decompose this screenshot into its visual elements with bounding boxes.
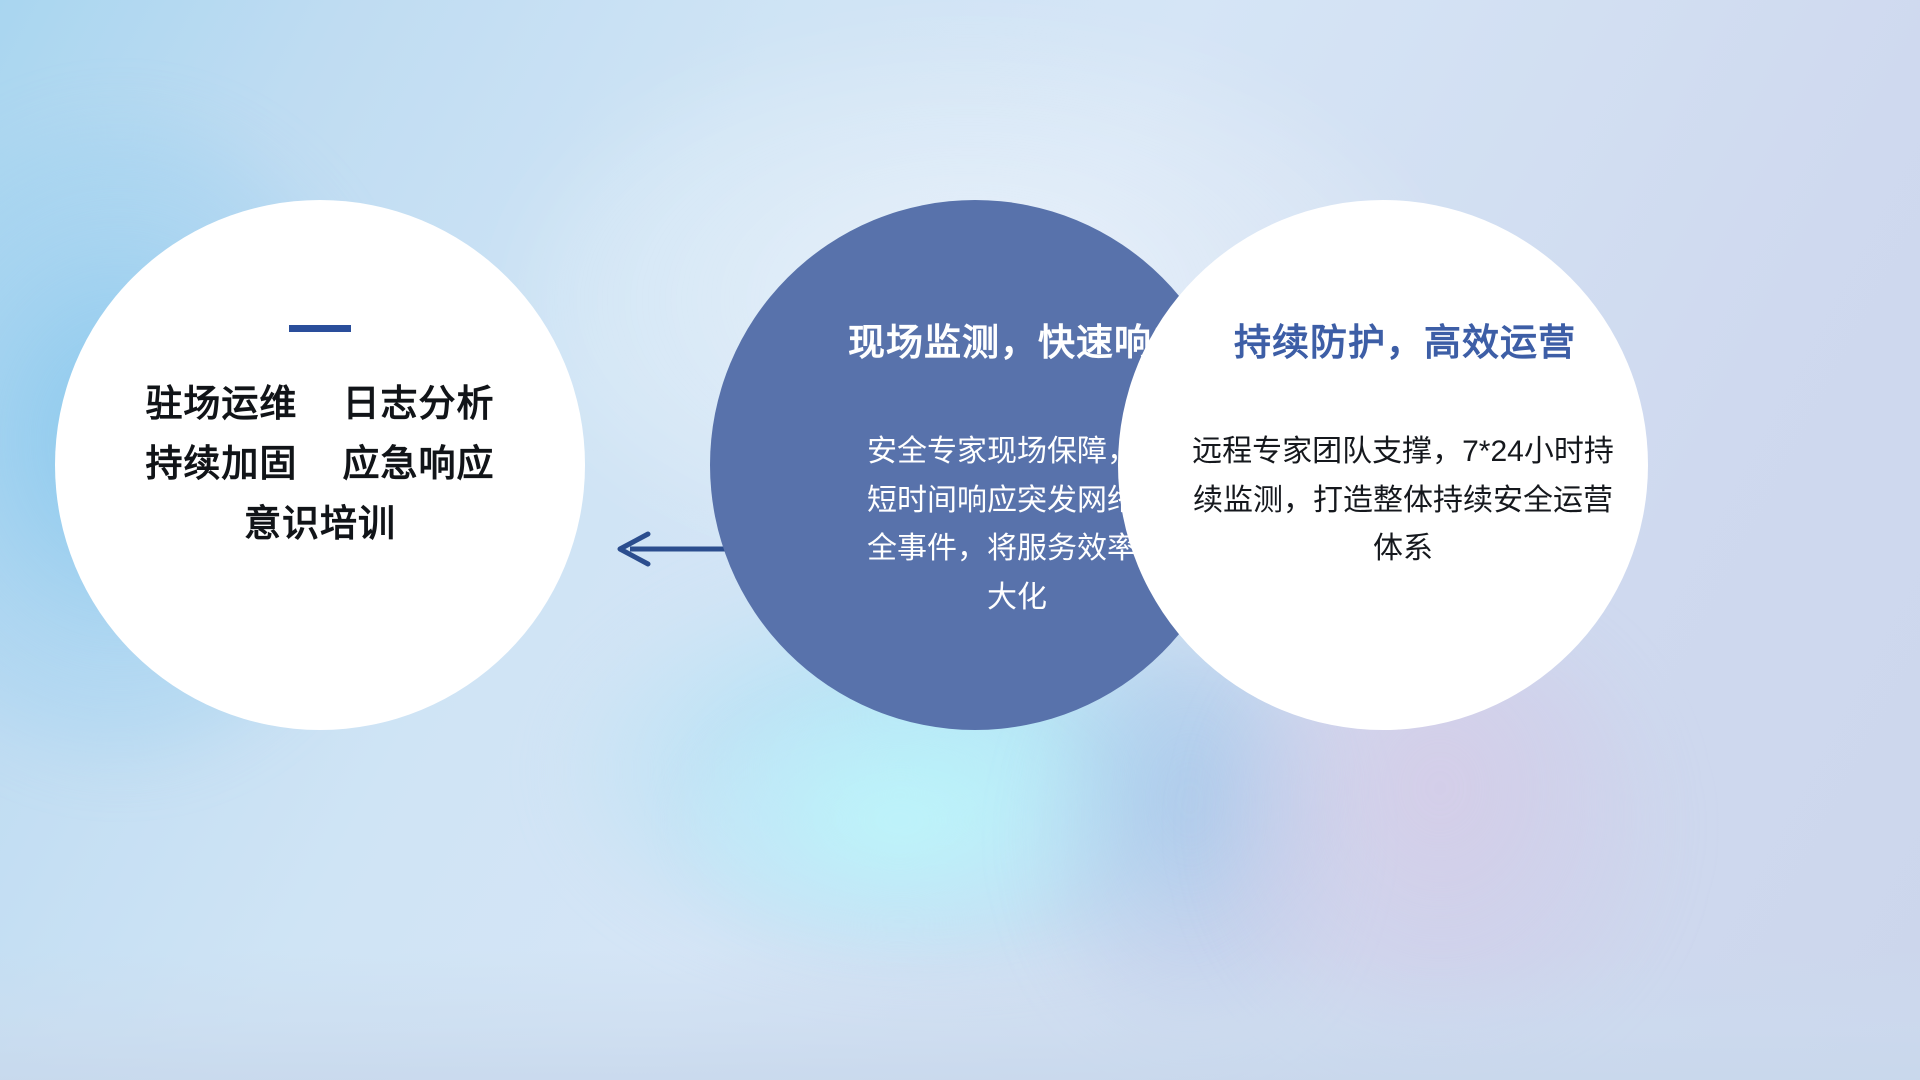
horizontal-dash-icon [289, 325, 351, 332]
capability-line-3: 意识培训 [244, 503, 396, 544]
node-continuous-protection[interactable]: 持续防护，高效运营 远程专家团队支撑，7*24小时持续监测，打造整体持续安全运营… [1118, 200, 1648, 730]
node-title: 持续防护，高效运营 [1234, 312, 1576, 366]
node-body: 远程专家团队支撑，7*24小时持续监测，打造整体持续安全运营体系 [1187, 428, 1619, 574]
background-floor-band [0, 950, 1920, 1080]
capability-line-1: 驻场运维 日志分析 [145, 383, 494, 424]
capability-line-2: 持续加固 应急响应 [145, 443, 494, 484]
slide-canvas: 驻场运维 日志分析 持续加固 应急响应 意识培训 现场监测，快速响应 安全专家现… [0, 0, 1920, 1080]
node-title: 现场监测，快速响应 [848, 312, 1190, 366]
node-capabilities[interactable]: 驻场运维 日志分析 持续加固 应急响应 意识培训 [55, 200, 585, 730]
capability-list: 驻场运维 日志分析 持续加固 应急响应 意识培训 [145, 374, 494, 554]
